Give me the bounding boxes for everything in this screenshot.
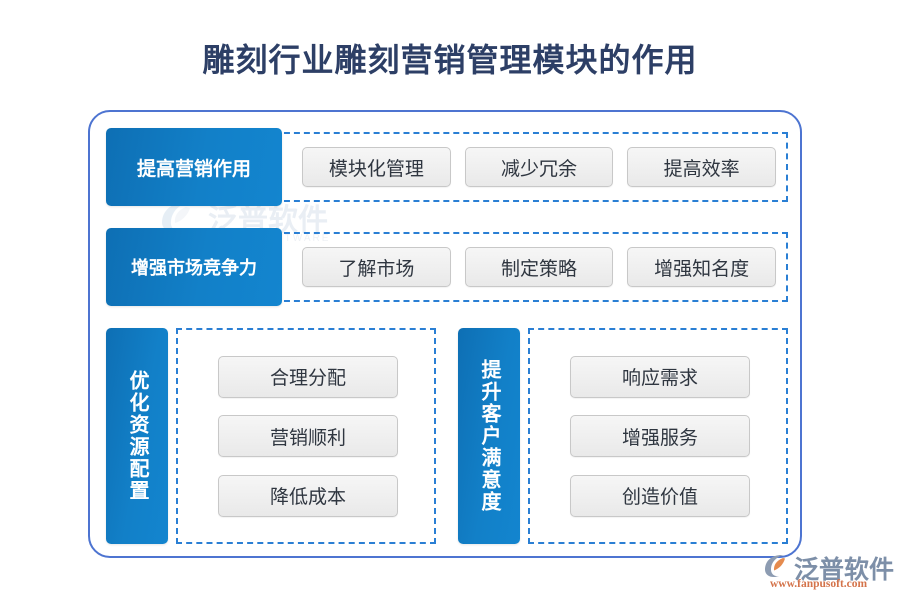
item-chip[interactable]: 模块化管理 (302, 147, 451, 187)
diagram-container: 提高营销作用 模块化管理 减少冗余 提高效率 增强市场竞争力 了解市场 制定策略… (88, 110, 802, 558)
item-chip[interactable]: 响应需求 (570, 356, 750, 398)
brand-logo[interactable]: 泛普软件 www.fanpusoft.com (764, 552, 894, 596)
diagram-row-2: 增强市场竞争力 了解市场 制定策略 增强知名度 (106, 228, 788, 306)
items-col-2: 响应需求 增强服务 创造价值 (520, 328, 788, 544)
item-chip[interactable]: 了解市场 (302, 247, 451, 287)
item-chip[interactable]: 营销顺利 (218, 415, 398, 457)
category-box-3[interactable]: 优化资源配置 (106, 328, 168, 544)
page-title: 雕刻行业雕刻营销管理模块的作用 (0, 38, 900, 82)
item-chip[interactable]: 创造价值 (570, 475, 750, 517)
items-row-2: 了解市场 制定策略 增强知名度 (282, 228, 788, 306)
diagram-row-1: 提高营销作用 模块化管理 减少冗余 提高效率 (106, 128, 788, 206)
item-chip[interactable]: 制定策略 (465, 247, 614, 287)
category-box-2[interactable]: 增强市场竞争力 (106, 228, 282, 306)
item-chip[interactable]: 合理分配 (218, 356, 398, 398)
category-box-1[interactable]: 提高营销作用 (106, 128, 282, 206)
items-col-1: 合理分配 营销顺利 降低成本 (168, 328, 436, 544)
category-box-4[interactable]: 提升客户满意度 (458, 328, 520, 544)
diagram-column-2: 提升客户满意度 响应需求 增强服务 创造价值 (458, 328, 788, 544)
item-chip[interactable]: 提高效率 (627, 147, 776, 187)
diagram-page: 雕刻行业雕刻营销管理模块的作用 泛普软件 FANPU SOFTWARE 提高营销… (0, 0, 900, 600)
item-chip[interactable]: 增强服务 (570, 415, 750, 457)
item-chip[interactable]: 减少冗余 (465, 147, 614, 187)
item-chip[interactable]: 降低成本 (218, 475, 398, 517)
fanpu-logo-icon (764, 554, 794, 579)
brand-url: www.fanpusoft.com (770, 578, 867, 590)
diagram-column-1: 优化资源配置 合理分配 营销顺利 降低成本 (106, 328, 436, 544)
items-row-1: 模块化管理 减少冗余 提高效率 (282, 128, 788, 206)
item-chip[interactable]: 增强知名度 (627, 247, 776, 287)
